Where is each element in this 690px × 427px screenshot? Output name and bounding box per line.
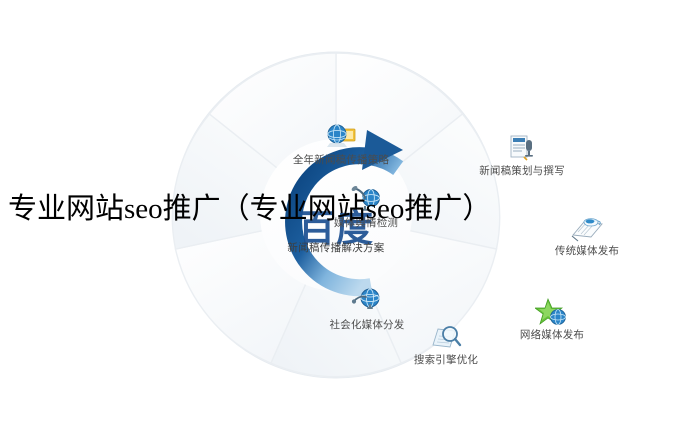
magnifier-page-icon <box>429 322 463 352</box>
segment-label: 新闻稿策划与撰写 <box>462 165 582 177</box>
segment-label: 搜索引擎优化 <box>386 354 506 366</box>
star-globe-icon <box>535 297 569 327</box>
segment-label: 全年新闻稿传播策略 <box>281 154 401 166</box>
segment-traditional-media[interactable]: 传统媒体发布 <box>527 213 647 257</box>
newspaper-coffee-icon <box>570 213 604 243</box>
globe-share-icon <box>350 287 384 317</box>
segment-online-media[interactable]: 网络媒体发布 <box>492 297 612 341</box>
segment-social-media[interactable]: 社会化媒体分发 <box>307 287 427 331</box>
screenshot-root: 百度 新闻稿传播解决方案 全年新闻稿传播策略 <box>0 0 690 427</box>
segment-annual-strategy[interactable]: 全年新闻稿传播策略 <box>281 122 401 166</box>
segment-press-release-writing[interactable]: 新闻稿策划与撰写 <box>462 133 582 177</box>
segment-label: 社会化媒体分发 <box>307 319 427 331</box>
segment-label: 传统媒体发布 <box>527 245 647 257</box>
overlay-watermark-text: 专业网站seo推广（专业网站seo推广） <box>8 185 491 227</box>
segment-label: 网络媒体发布 <box>492 329 612 341</box>
document-microphone-icon <box>505 133 539 163</box>
globe-monitor-icon <box>324 122 358 152</box>
